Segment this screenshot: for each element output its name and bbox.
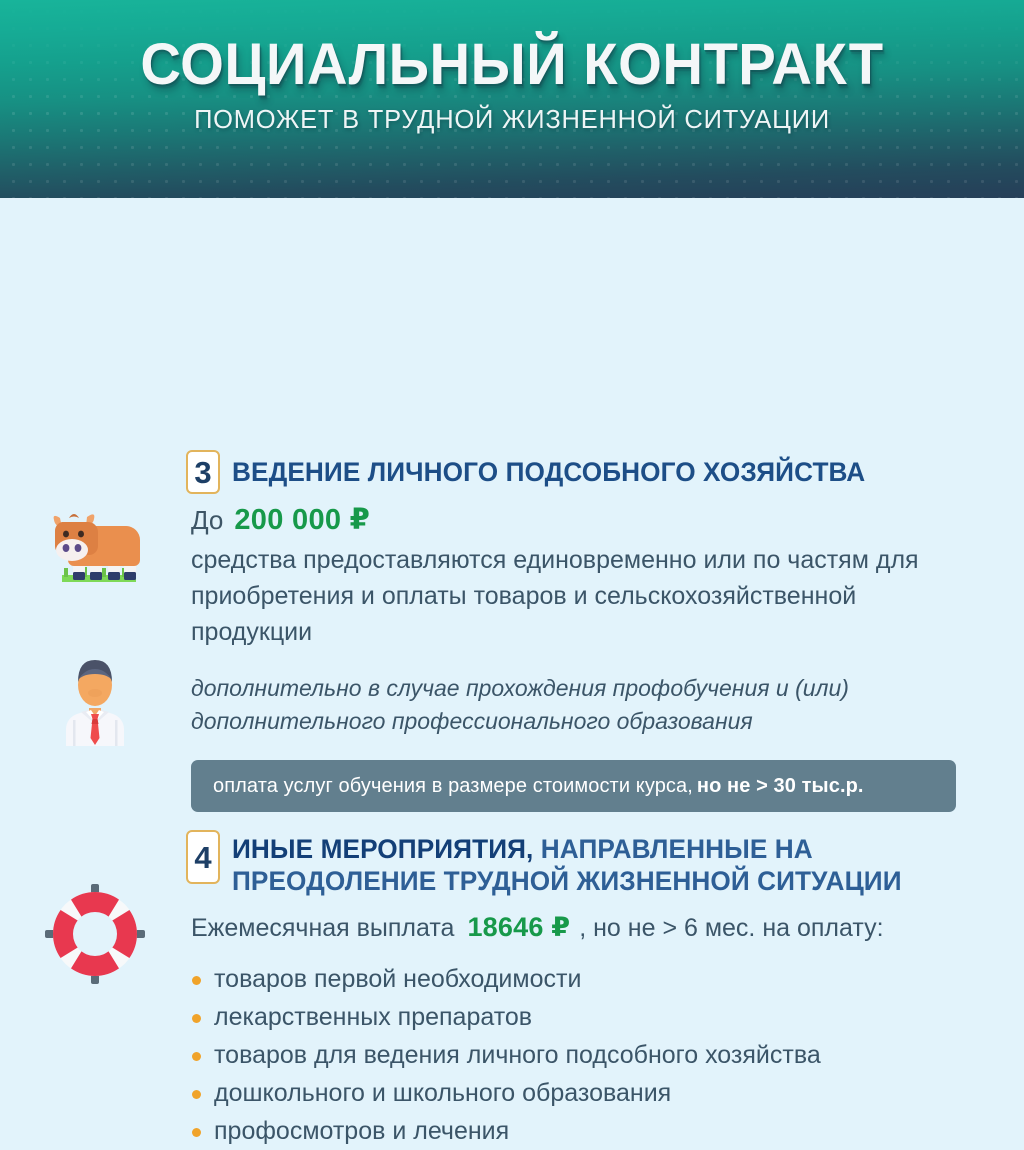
- section-3-italic-note: дополнительно в случае прохождения профо…: [191, 672, 976, 738]
- lifebuoy-icon-slot: [0, 882, 190, 986]
- list-item: товаров первой необходимости: [191, 960, 976, 998]
- section-3-training-bar-text: оплата услуг обучения в размере стоимост…: [213, 775, 693, 798]
- section-4-heading-light-1: НАПРАВЛЕННЫЕ НА: [533, 834, 812, 864]
- section-3-description: средства предоставляются единовременно и…: [191, 542, 976, 650]
- cow-icon: [40, 498, 150, 590]
- section-4-heading: ИНЫЕ МЕРОПРИЯТИЯ, НАПРАВЛЕННЫЕ НА ПРЕОДО…: [232, 830, 902, 897]
- section-3-amount-line: До 200 000 ₽: [191, 504, 976, 536]
- section-4-payment-line: Ежемесячная выплата 18646 ₽ , но не > 6 …: [191, 911, 976, 944]
- businessman-icon: [45, 646, 145, 746]
- section-4-payment-value: 18646 ₽: [467, 911, 570, 943]
- list-item: профосмотров и лечения: [191, 1112, 976, 1150]
- lifebuoy-icon: [43, 882, 147, 986]
- list-item: лекарственных препаратов: [191, 998, 976, 1036]
- section-4: 4 ИНЫЕ МЕРОПРИЯТИЯ, НАПРАВЛЕННЫЕ НА ПРЕО…: [186, 830, 976, 1150]
- section-4-number-badge: 4: [186, 830, 220, 884]
- list-item: дошкольного и школьного образования: [191, 1074, 976, 1112]
- section-3-training-bar-limit: но не > 30 тыс.р.: [697, 775, 864, 798]
- list-item: товаров для ведения личного подсобного х…: [191, 1036, 976, 1074]
- section-4-bullet-list: товаров первой необходимости лекарственн…: [191, 960, 976, 1150]
- page-header: СОЦИАЛЬНЫЙ КОНТРАКТ ПОМОЖЕТ В ТРУДНОЙ ЖИ…: [0, 0, 1024, 198]
- section-3: 3 ВЕДЕНИЕ ЛИЧНОГО ПОДСОБНОГО ХОЗЯЙСТВА Д…: [186, 450, 976, 812]
- header-text-block: СОЦИАЛЬНЫЙ КОНТРАКТ ПОМОЖЕТ В ТРУДНОЙ ЖИ…: [0, 0, 1024, 134]
- section-3-training-bar: оплата услуг обучения в размере стоимост…: [191, 760, 956, 812]
- section-4-heading-light-2: ПРЕОДОЛЕНИЕ ТРУДНОЙ ЖИЗНЕННОЙ СИТУАЦИИ: [232, 866, 902, 896]
- section-3-amount-prefix: До: [191, 504, 223, 536]
- section-3-heading: ВЕДЕНИЕ ЛИЧНОГО ПОДСОБНОГО ХОЗЯЙСТВА: [232, 450, 865, 488]
- section-3-number-badge: 3: [186, 450, 220, 494]
- section-4-heading-strong: ИНЫЕ МЕРОПРИЯТИЯ,: [232, 834, 533, 864]
- businessman-icon-slot: [0, 646, 190, 746]
- section-4-payment-prefix: Ежемесячная выплата: [191, 912, 454, 944]
- cow-icon-slot: [0, 498, 190, 590]
- page-subtitle: ПОМОЖЕТ В ТРУДНОЙ ЖИЗНЕННОЙ СИТУАЦИИ: [10, 104, 1014, 134]
- page-content: 3 ВЕДЕНИЕ ЛИЧНОГО ПОДСОБНОГО ХОЗЯЙСТВА Д…: [0, 198, 1024, 1024]
- section-3-heading-row: 3 ВЕДЕНИЕ ЛИЧНОГО ПОДСОБНОГО ХОЗЯЙСТВА: [186, 450, 976, 494]
- section-3-amount-value: 200 000 ₽: [234, 504, 370, 536]
- page-title: СОЦИАЛЬНЫЙ КОНТРАКТ: [15, 34, 1008, 96]
- section-4-payment-suffix: , но не > 6 мес. на оплату:: [579, 912, 883, 944]
- section-4-heading-row: 4 ИНЫЕ МЕРОПРИЯТИЯ, НАПРАВЛЕННЫЕ НА ПРЕО…: [186, 830, 976, 897]
